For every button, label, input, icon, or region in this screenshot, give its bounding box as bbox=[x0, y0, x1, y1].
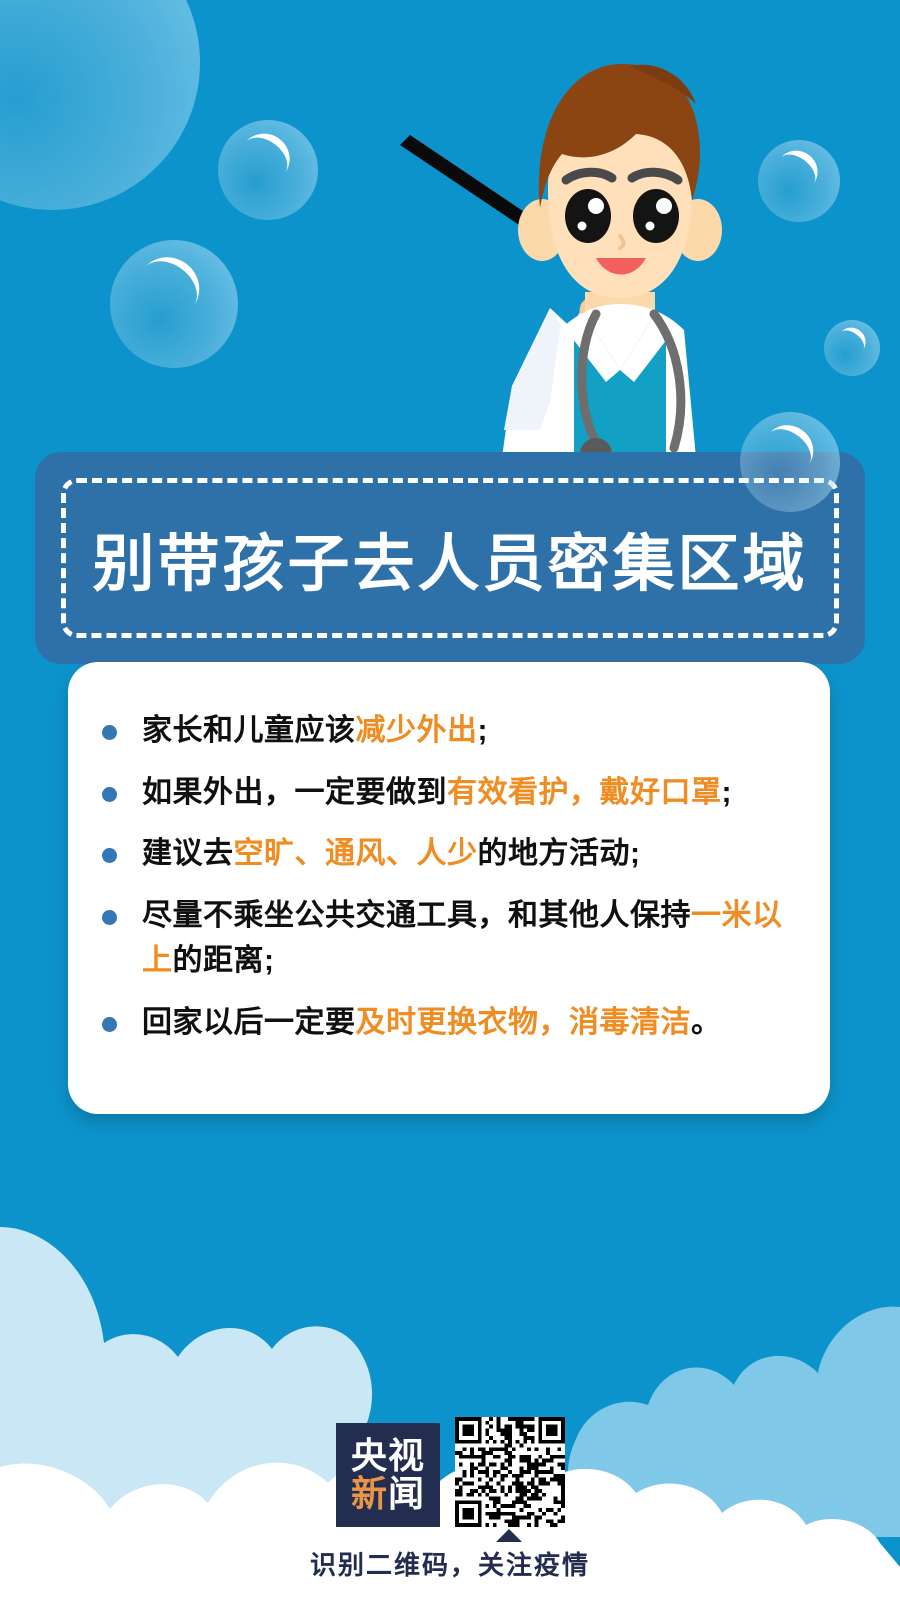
list-item-text: 如果外出，一定要做到有效看护，戴好口罩; bbox=[142, 770, 732, 816]
plain-text: ; bbox=[722, 776, 733, 809]
highlighted-text: 及时更换衣物，消毒清洁 bbox=[356, 1006, 692, 1039]
list-item: 尽量不乘坐公共交通工具，和其他人保持一米以上的距离; bbox=[102, 893, 812, 984]
plain-text: 尽量不乘坐公共交通工具，和其他人保持 bbox=[142, 899, 691, 932]
bubble-small-upperleft bbox=[218, 120, 318, 220]
list-item-text: 回家以后一定要及时更换衣物，消毒清洁。 bbox=[142, 1000, 722, 1046]
bubble-medium-left bbox=[110, 240, 238, 368]
list-item: 如果外出，一定要做到有效看护，戴好口罩; bbox=[102, 770, 812, 816]
bubble-highlight-icon bbox=[127, 245, 212, 329]
logo-line-1: 央视 bbox=[351, 1437, 425, 1475]
bullet-dot-icon bbox=[102, 725, 117, 740]
list-item: 回家以后一定要及时更换衣物，消毒清洁。 bbox=[102, 1000, 812, 1046]
bubble-highlight-icon bbox=[833, 322, 871, 360]
highlighted-text: 有效看护，戴好口罩 bbox=[447, 776, 722, 809]
plain-text: 的地方活动; bbox=[478, 837, 641, 870]
bullet-dot-icon bbox=[102, 1017, 117, 1032]
content-card: 家长和儿童应该减少外出;如果外出，一定要做到有效看护，戴好口罩;建议去空旷、通风… bbox=[68, 662, 830, 1114]
plain-text: 如果外出，一定要做到 bbox=[142, 776, 447, 809]
bullet-dot-icon bbox=[102, 848, 117, 863]
list-item: 家长和儿童应该减少外出; bbox=[102, 708, 812, 754]
plain-text: 回家以后一定要 bbox=[142, 1006, 356, 1039]
title-banner: 别带孩子去人员密集区域 bbox=[35, 452, 865, 664]
qr-pointer-arrow-icon bbox=[496, 1529, 522, 1542]
page-title: 别带孩子去人员密集区域 bbox=[35, 513, 865, 603]
list-item-text: 家长和儿童应该减少外出; bbox=[142, 708, 488, 754]
bubble-over-banner bbox=[740, 412, 840, 512]
plain-text: 家长和儿童应该 bbox=[142, 714, 356, 747]
eye-left bbox=[565, 189, 611, 243]
list-item-text: 建议去空旷、通风、人少的地方活动; bbox=[142, 831, 641, 877]
bullet-list: 家长和儿童应该减少外出;如果外出，一定要做到有效看护，戴好口罩;建议去空旷、通风… bbox=[102, 708, 812, 1062]
bullet-dot-icon bbox=[102, 787, 117, 802]
plain-text: 建议去 bbox=[142, 837, 234, 870]
eye-right bbox=[633, 189, 679, 243]
list-item-text: 尽量不乘坐公共交通工具，和其他人保持一米以上的距离; bbox=[142, 893, 812, 984]
bubble-large-topleft bbox=[0, 0, 200, 210]
plain-text: 的距离; bbox=[173, 944, 275, 977]
logo-char-xin: 新 bbox=[351, 1473, 388, 1514]
bubble-highlight-icon bbox=[755, 415, 823, 482]
highlighted-text: 空旷、通风、人少 bbox=[234, 837, 478, 870]
highlighted-text: 减少外出 bbox=[356, 714, 478, 747]
footer: 央视 新闻 识别二维码，关注疫情 bbox=[0, 1367, 900, 1607]
logo-line-2: 新闻 bbox=[351, 1475, 425, 1513]
footer-caption: 识别二维码，关注疫情 bbox=[0, 1545, 900, 1582]
list-item: 建议去空旷、通风、人少的地方活动; bbox=[102, 831, 812, 877]
logo-char-wen: 闻 bbox=[388, 1473, 425, 1514]
bubble-highlight-icon bbox=[231, 124, 300, 193]
plain-text: 。 bbox=[691, 1006, 722, 1039]
qr-code[interactable] bbox=[455, 1417, 565, 1527]
plain-text: ; bbox=[478, 714, 489, 747]
poster-root: 别带孩子去人员密集区域 家长和儿童应该减少外出;如果外出，一定要做到有效看护，戴… bbox=[0, 0, 900, 1607]
bullet-dot-icon bbox=[102, 910, 117, 925]
cctv-news-logo: 央视 新闻 bbox=[336, 1423, 440, 1527]
bubble-mid-right bbox=[824, 320, 880, 376]
